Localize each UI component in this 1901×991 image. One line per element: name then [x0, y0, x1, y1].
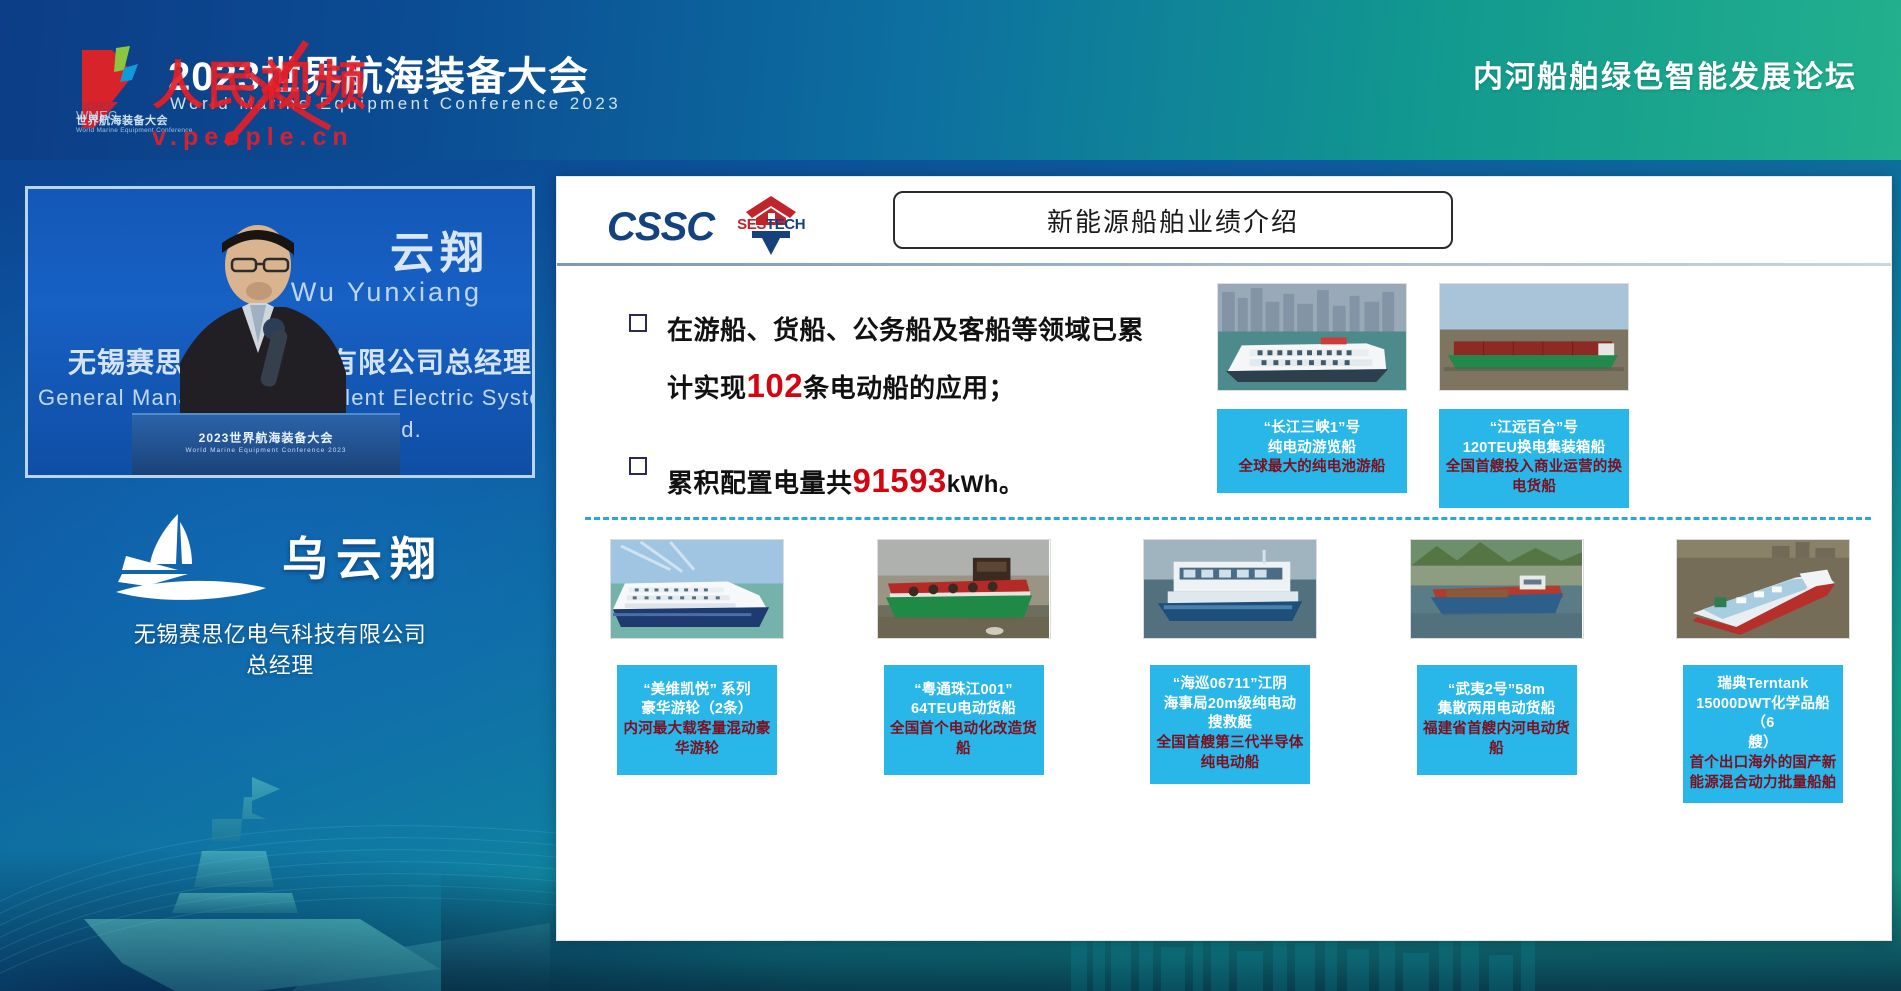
speaker-org-line2: 总经理: [25, 650, 535, 681]
conference-emblem-label: 世界航海装备大会: [76, 112, 168, 128]
sestech-logo-icon: SESTECH: [728, 195, 814, 259]
caption-line: 海事局20m级纯电动: [1156, 695, 1304, 715]
top-card-jiangyuan-baihe[interactable]: “江远百合”号 120TEU换电集装箱船 全国首艘投入商业运营的换电货船: [1439, 283, 1629, 508]
photo-green-cargo-vessel: [878, 540, 1050, 639]
bottom-ship-cards: “美维凯悦” 系列 豪华游轮（2条） 内河最大载客量混动豪华游轮: [587, 539, 1873, 803]
bullet-item: 在游船、货船、公务船及客船等领域已累计实现102条电动船的应用；: [629, 307, 1159, 416]
caption-line: 120TEU换电集装箱船: [1445, 439, 1623, 459]
speaker-name: 乌云翔: [282, 523, 444, 589]
cssc-logo: CSSC SESTECH: [607, 195, 814, 259]
caption-emphasis: 首个出口海外的国产新能源混合动力批量船舶: [1689, 754, 1837, 793]
caption-line: 豪华游轮（2条）: [623, 700, 771, 720]
bullet-2-pre: 累积配置电量共: [667, 469, 853, 498]
photo-chemical-tanker: [1677, 540, 1849, 639]
photo-rescue-boat: [1144, 540, 1316, 639]
conference-subtitle: World Marine Equipment Conference 2023: [170, 94, 621, 114]
bullet-2-highlight: 91593: [853, 462, 947, 499]
ship-photo-terntank: [1676, 539, 1850, 639]
speaker-video-feed[interactable]: 云翔 Wu Yunxiang 无锡赛思亿电气科技有限公司总经理 General …: [25, 186, 535, 478]
slide-header-divider: [557, 263, 1891, 266]
ship-photo-yuetong-zhujiang-001: [877, 539, 1051, 639]
caption-emphasis: 全国首艘第三代半导体纯电动船: [1156, 734, 1304, 773]
presentation-slide[interactable]: CSSC SESTECH 新能源船舶业绩介绍 在游船、货船、公务船及客船等领域已…: [556, 176, 1892, 941]
ship-photo-haixun-06711: [1143, 539, 1317, 639]
caption-emphasis: 全国首艘投入商业运营的换电货船: [1445, 458, 1623, 497]
speaker-organization: 无锡赛思亿电气科技有限公司 总经理: [25, 619, 535, 681]
bottom-card-meiwei-kaiyue[interactable]: “美维凯悦” 系列 豪华游轮（2条） 内河最大载客量混动豪华游轮: [587, 539, 807, 803]
background-ship-silhouette: [30, 701, 550, 991]
bottom-card-caption: “粤通珠江001” 64TEU电动货船 全国首个电动化改造货船: [884, 665, 1044, 775]
podium-text-en: World Marine Equipment Conference 2023: [132, 447, 400, 454]
bottom-card-wuyi-2[interactable]: “武夷2号”58m 集散两用电动货船 福建省首艘内河电动货船: [1387, 539, 1607, 803]
caption-line: “长江三峡1”号: [1223, 419, 1401, 439]
bottom-card-haixun-06711[interactable]: “海巡06711”江阴 海事局20m级纯电动 搜救艇 全国首艘第三代半导体纯电动…: [1120, 539, 1340, 803]
cssc-wordmark: CSSC: [607, 205, 714, 250]
caption-line: 集散两用电动货船: [1423, 700, 1571, 720]
caption-line: 搜救艇: [1156, 714, 1304, 734]
speaker-name-row: 乌云翔: [25, 508, 535, 603]
bottom-card-yuetong-zhujiang-001[interactable]: “粤通珠江001” 64TEU电动货船 全国首个电动化改造货船: [854, 539, 1074, 803]
sestech-ses: SES: [737, 216, 766, 233]
photo-container-barge: [1440, 284, 1628, 391]
caption-line: “美维凯悦” 系列: [623, 681, 771, 701]
bullet-2-post: kWh。: [947, 471, 1024, 498]
bullet-1-post: 条电动船的应用；: [803, 374, 1015, 403]
sailboat-wave-icon: [116, 508, 266, 603]
slide-header: CSSC SESTECH 新能源船舶业绩介绍: [557, 177, 1891, 263]
caption-emphasis: 全国首个电动化改造货船: [890, 720, 1038, 759]
top-ship-cards: “长江三峡1”号 纯电动游览船 全球最大的纯电池游船: [1217, 283, 1629, 508]
bullet-item: 累积配置电量共91593kWh。: [629, 450, 1159, 511]
photo-cruise-ship-city: [1218, 284, 1406, 391]
caption-line: 艘）: [1689, 734, 1837, 754]
bottom-card-terntank[interactable]: 瑞典Terntank 15000DWT化学品船（6 艘） 首个出口海外的国产新能…: [1653, 539, 1873, 803]
ship-photo-wuyi-2: [1410, 539, 1584, 639]
photo-luxury-cruise: [611, 540, 783, 639]
bottom-card-caption: “美维凯悦” 系列 豪华游轮（2条） 内河最大载客量混动豪华游轮: [617, 665, 777, 775]
caption-emphasis: 全球最大的纯电池游船: [1223, 458, 1401, 478]
conference-logo: WMEC 世界航海装备大会 World Marine Equipment Con…: [72, 38, 592, 146]
bottom-card-caption: “海巡06711”江阴 海事局20m级纯电动 搜救艇 全国首艘第三代半导体纯电动…: [1150, 665, 1310, 784]
photo-bulk-cargo-ship: [1411, 540, 1583, 639]
speaker-org-line1: 无锡赛思亿电气科技有限公司: [25, 619, 535, 650]
background-wave-lines: [0, 691, 620, 991]
bottom-card-caption: 瑞典Terntank 15000DWT化学品船（6 艘） 首个出口海外的国产新能…: [1683, 665, 1843, 803]
ship-photo-changjiang-sanxia-1: [1217, 283, 1407, 391]
caption-line: 纯电动游览船: [1223, 439, 1401, 459]
speaker-info-block: 乌云翔 无锡赛思亿电气科技有限公司 总经理: [25, 508, 535, 681]
bullet-text: 累积配置电量共91593kWh。: [667, 450, 1023, 511]
caption-emphasis: 福建省首艘内河电动货船: [1423, 720, 1571, 759]
slide-dashed-divider: [585, 517, 1871, 520]
bullet-text: 在游船、货船、公务船及客船等领域已累计实现102条电动船的应用；: [667, 307, 1159, 416]
bullet-square-icon: [629, 457, 647, 475]
bullet-1-highlight: 102: [747, 367, 804, 404]
conference-emblem-label-en: World Marine Equipment Conference: [76, 127, 193, 134]
ship-photo-meiwei-kaiyue: [610, 539, 784, 639]
page-header: WMEC 世界航海装备大会 World Marine Equipment Con…: [0, 0, 1901, 160]
caption-line: “武夷2号”58m: [1423, 681, 1571, 701]
ship-photo-jiangyuan-baihe: [1439, 283, 1629, 391]
podium: 2023世界航海装备大会 World Marine Equipment Conf…: [132, 413, 400, 475]
podium-text-cn: 2023世界航海装备大会: [132, 429, 400, 446]
caption-line: “海巡06711”江阴: [1156, 675, 1304, 695]
caption-emphasis: 内河最大载客量混动豪华游轮: [623, 720, 771, 759]
caption-line: 64TEU电动货船: [890, 700, 1038, 720]
video-backdrop: 云翔 Wu Yunxiang 无锡赛思亿电气科技有限公司总经理 General …: [28, 189, 532, 475]
sestech-wordmark: SESTECH: [728, 216, 814, 233]
slide-title: 新能源船舶业绩介绍: [1047, 202, 1299, 239]
bottom-card-caption: “武夷2号”58m 集散两用电动货船 福建省首艘内河电动货船: [1417, 665, 1577, 775]
caption-line: “江远百合”号: [1445, 419, 1623, 439]
backdrop-speaker-name: 云翔: [390, 217, 490, 281]
caption-line: 瑞典Terntank: [1689, 675, 1837, 695]
sestech-tech: TECH: [766, 216, 805, 233]
slide-bullet-list: 在游船、货船、公务船及客船等领域已累计实现102条电动船的应用； 累积配置电量共…: [629, 307, 1159, 545]
top-card-caption: “长江三峡1”号 纯电动游览船 全球最大的纯电池游船: [1217, 409, 1407, 493]
forum-title: 内河船舶绿色智能发展论坛: [1473, 52, 1857, 96]
caption-line: 15000DWT化学品船（6: [1689, 695, 1837, 734]
top-card-caption: “江远百合”号 120TEU换电集装箱船 全国首艘投入商业运营的换电货船: [1439, 409, 1629, 508]
slide-title-box: 新能源船舶业绩介绍: [893, 191, 1453, 249]
top-card-changjiang-sanxia-1[interactable]: “长江三峡1”号 纯电动游览船 全球最大的纯电池游船: [1217, 283, 1407, 508]
caption-line: “粤通珠江001”: [890, 681, 1038, 701]
bullet-square-icon: [629, 314, 647, 332]
